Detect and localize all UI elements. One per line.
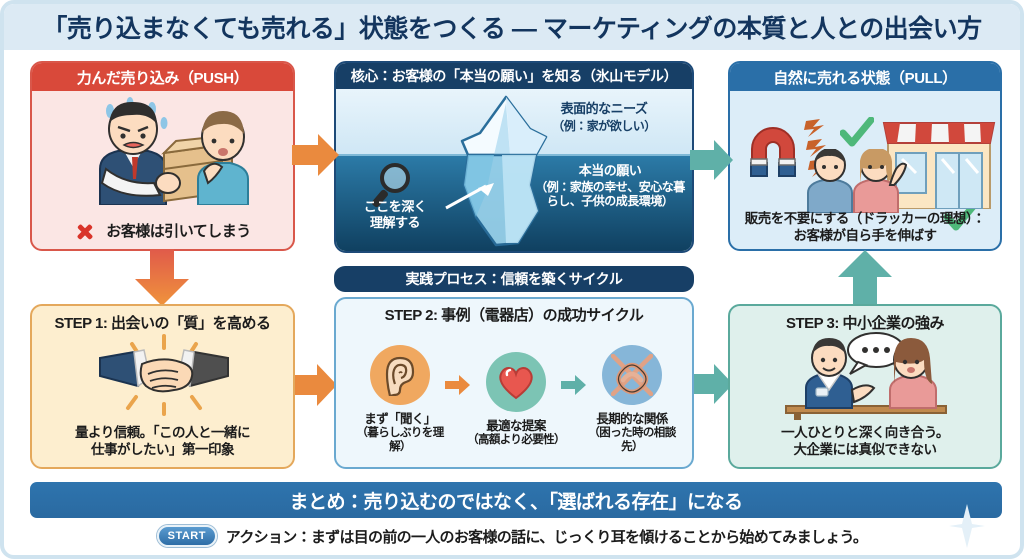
page-title: 「売り込まなくても売れる」状態をつくる ― マーケティングの本質と人との出会い方 <box>42 9 981 45</box>
cycle-step-listen-label: まず「聞く」 （暮らしぶりを理解） <box>351 412 449 455</box>
success-cycle-row: まず「聞く」 （暮らしぶりを理解） 最適な提案 （高額より必要性） <box>344 345 688 455</box>
step1-panel: STEP 1: 出会いの「質」を高める 量より信頼。「この人と一緒に仕事がしたい… <box>30 304 295 469</box>
step3-panel: STEP 3: 中小企業の強み 一人ひとりと深く向 <box>728 304 1002 469</box>
iceberg-here-label: ここを深く理解する <box>348 199 442 232</box>
step1-caption: 量より信頼。「この人と一緒に仕事がしたい」第一印象 <box>32 425 293 459</box>
iceberg-panel-header: 核心：お客様の「本当の願い」を知る（氷山モデル） <box>336 63 692 89</box>
cycle-step-propose: 最適な提案 （高額より必要性） <box>467 352 565 448</box>
push-caption-row: お客様は引いてしまう <box>32 221 293 243</box>
action-text: アクション：まずは目の前の一人のお客様の話に、じっくり耳を傾けることから始めてみ… <box>226 526 867 547</box>
knot-icon <box>611 354 653 396</box>
action-row: START アクション：まずは目の前の一人のお客様の話に、じっくり耳を傾けること… <box>4 525 1020 547</box>
cycle-step-listen: まず「聞く」 （暮らしぶりを理解） <box>351 345 449 455</box>
iceberg-surface-label: 表面的なニーズ （例：家が欲しい） <box>524 101 684 133</box>
infographic-canvas: 「売り込まなくても売れる」状態をつくる ― マーケティングの本質と人との出会い方… <box>0 0 1024 559</box>
cycle-label-0: まず「聞く」 <box>364 412 435 426</box>
step1-to-step2-arrow <box>292 362 338 408</box>
cycle-step-propose-label: 最適な提案 （高額より必要性） <box>467 419 565 448</box>
knot-circle <box>602 345 662 405</box>
step1-title: STEP 1: 出会いの「質」を高める <box>32 315 293 334</box>
cycle-step-relationship: 長期的な関係 （困った時の相談先） <box>583 345 681 455</box>
process-section-header: 実践プロセス：信頼を築くサイクル <box>334 266 694 292</box>
surface-need-example: （例：家が欲しい） <box>524 119 684 133</box>
ear-circle <box>370 345 430 405</box>
deep-wish-title: 本当の願い <box>579 163 642 178</box>
handshake-icon <box>94 334 234 416</box>
step2-panel: STEP 2: 事例（電器店）の成功サイクル まず「聞く」 （暮らしぶりを理解） <box>334 297 694 469</box>
push-to-iceberg-arrow <box>292 132 340 178</box>
surface-need-title: 表面的なニーズ <box>561 101 648 116</box>
step3-to-pull-arrow <box>836 250 894 308</box>
iceberg-to-pull-arrow <box>690 138 734 182</box>
ear-icon <box>381 354 419 396</box>
start-badge[interactable]: START <box>157 525 217 547</box>
magnet-icon <box>742 119 804 181</box>
x-mark-icon <box>74 221 96 243</box>
cycle-step-relationship-label: 長期的な関係 （困った時の相談先） <box>583 412 681 455</box>
deep-wish-example: （例：家族の幸せ、安心な暮らし、子供の成長環境） <box>534 180 686 209</box>
heart-circle <box>486 352 546 412</box>
pushy-salesman-illustration <box>72 97 257 205</box>
push-caption: お客様は引いてしまう <box>106 223 251 242</box>
cycle-sub-1: （高額より必要性） <box>467 434 565 448</box>
pull-panel: 自然に売れる状態（PULL） <box>728 61 1002 251</box>
step3-title: STEP 3: 中小企業の強み <box>730 315 1000 334</box>
understand-deeply-arrow-icon <box>444 181 496 211</box>
push-to-step1-arrow <box>132 249 192 307</box>
cycle-label-1: 最適な提案 <box>486 419 546 433</box>
summary-bar: まとめ：売り込むのではなく、「選ばれる存在」になる <box>30 482 1002 518</box>
page-title-band: 「売り込まなくても売れる」状態をつくる ― マーケティングの本質と人との出会い方 <box>4 4 1020 50</box>
pull-panel-header: 自然に売れる状態（PULL） <box>730 63 1000 91</box>
heart-icon <box>496 364 536 400</box>
step2-title: STEP 2: 事例（電器店）の成功サイクル <box>336 307 692 326</box>
happy-customers-illustration <box>802 149 908 213</box>
push-panel: 力んだ売り込み（PUSH） <box>30 61 295 251</box>
iceberg-panel: 核心：お客様の「本当の願い」を知る（氷山モデル） 表面的なニーズ （例：家が欲し… <box>334 61 694 253</box>
step3-caption: 一人ひとりと深く向き合う。大企業には真似できない <box>730 425 1000 459</box>
push-panel-header: 力んだ売り込み（PUSH） <box>32 63 293 91</box>
iceberg-deep-label: 本当の願い （例：家族の幸せ、安心な暮らし、子供の成長環境） <box>534 163 686 209</box>
shopkeeper-conversation-illustration <box>778 332 954 420</box>
cycle-label-2: 長期的な関係 <box>596 412 667 426</box>
cycle-sub-2: （困った時の相談先） <box>583 427 681 455</box>
pull-caption: 販売を不要にする（ドラッカーの理想）：お客様が自ら手を伸ばす <box>730 211 1000 245</box>
check-icon <box>840 117 874 149</box>
cycle-sub-0: （暮らしぶりを理解） <box>351 427 449 455</box>
